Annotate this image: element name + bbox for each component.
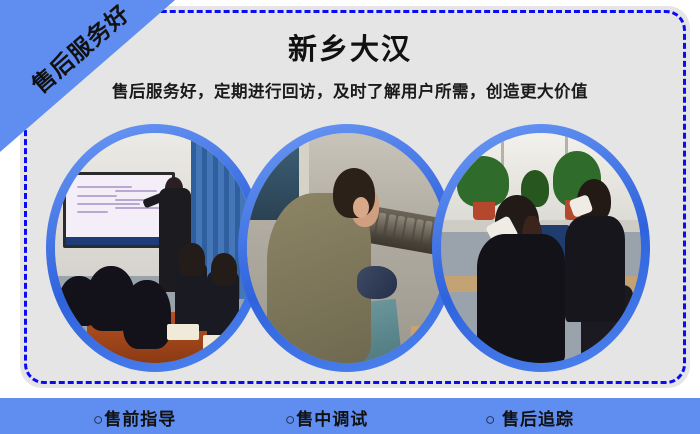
photo-circle-group — [0, 118, 700, 383]
photo-circle-training — [46, 124, 264, 372]
bottom-bar: ○售前指导 ○售中调试 ○ 售后追踪 — [0, 398, 700, 434]
ribbon-triangle — [0, 0, 175, 152]
promo-banner: 新乡大汉 售后服务好，定期进行回访，及时了解用户所需，创造更大价值 — [0, 0, 700, 434]
agent2-body — [565, 216, 625, 322]
bottom-item-in-sales: ○售中调试 — [285, 405, 368, 430]
photo-circle-machine — [238, 124, 456, 372]
photo-training — [55, 133, 255, 363]
bottom-item-after-sales: ○ 售后追踪 — [485, 405, 574, 430]
work-bench — [411, 326, 447, 349]
photo-circle-phone — [432, 124, 650, 372]
bottom-item-pre-sales: ○售前指导 — [93, 405, 176, 430]
work-glove — [357, 266, 397, 298]
agent1-body — [477, 234, 565, 363]
corner-ribbon: 售后服务好 — [0, 0, 175, 152]
technician-ear — [353, 197, 369, 218]
photo-machine-adjust — [247, 133, 447, 363]
photo-phone-support — [441, 133, 641, 363]
wall-pipe — [299, 133, 309, 202]
